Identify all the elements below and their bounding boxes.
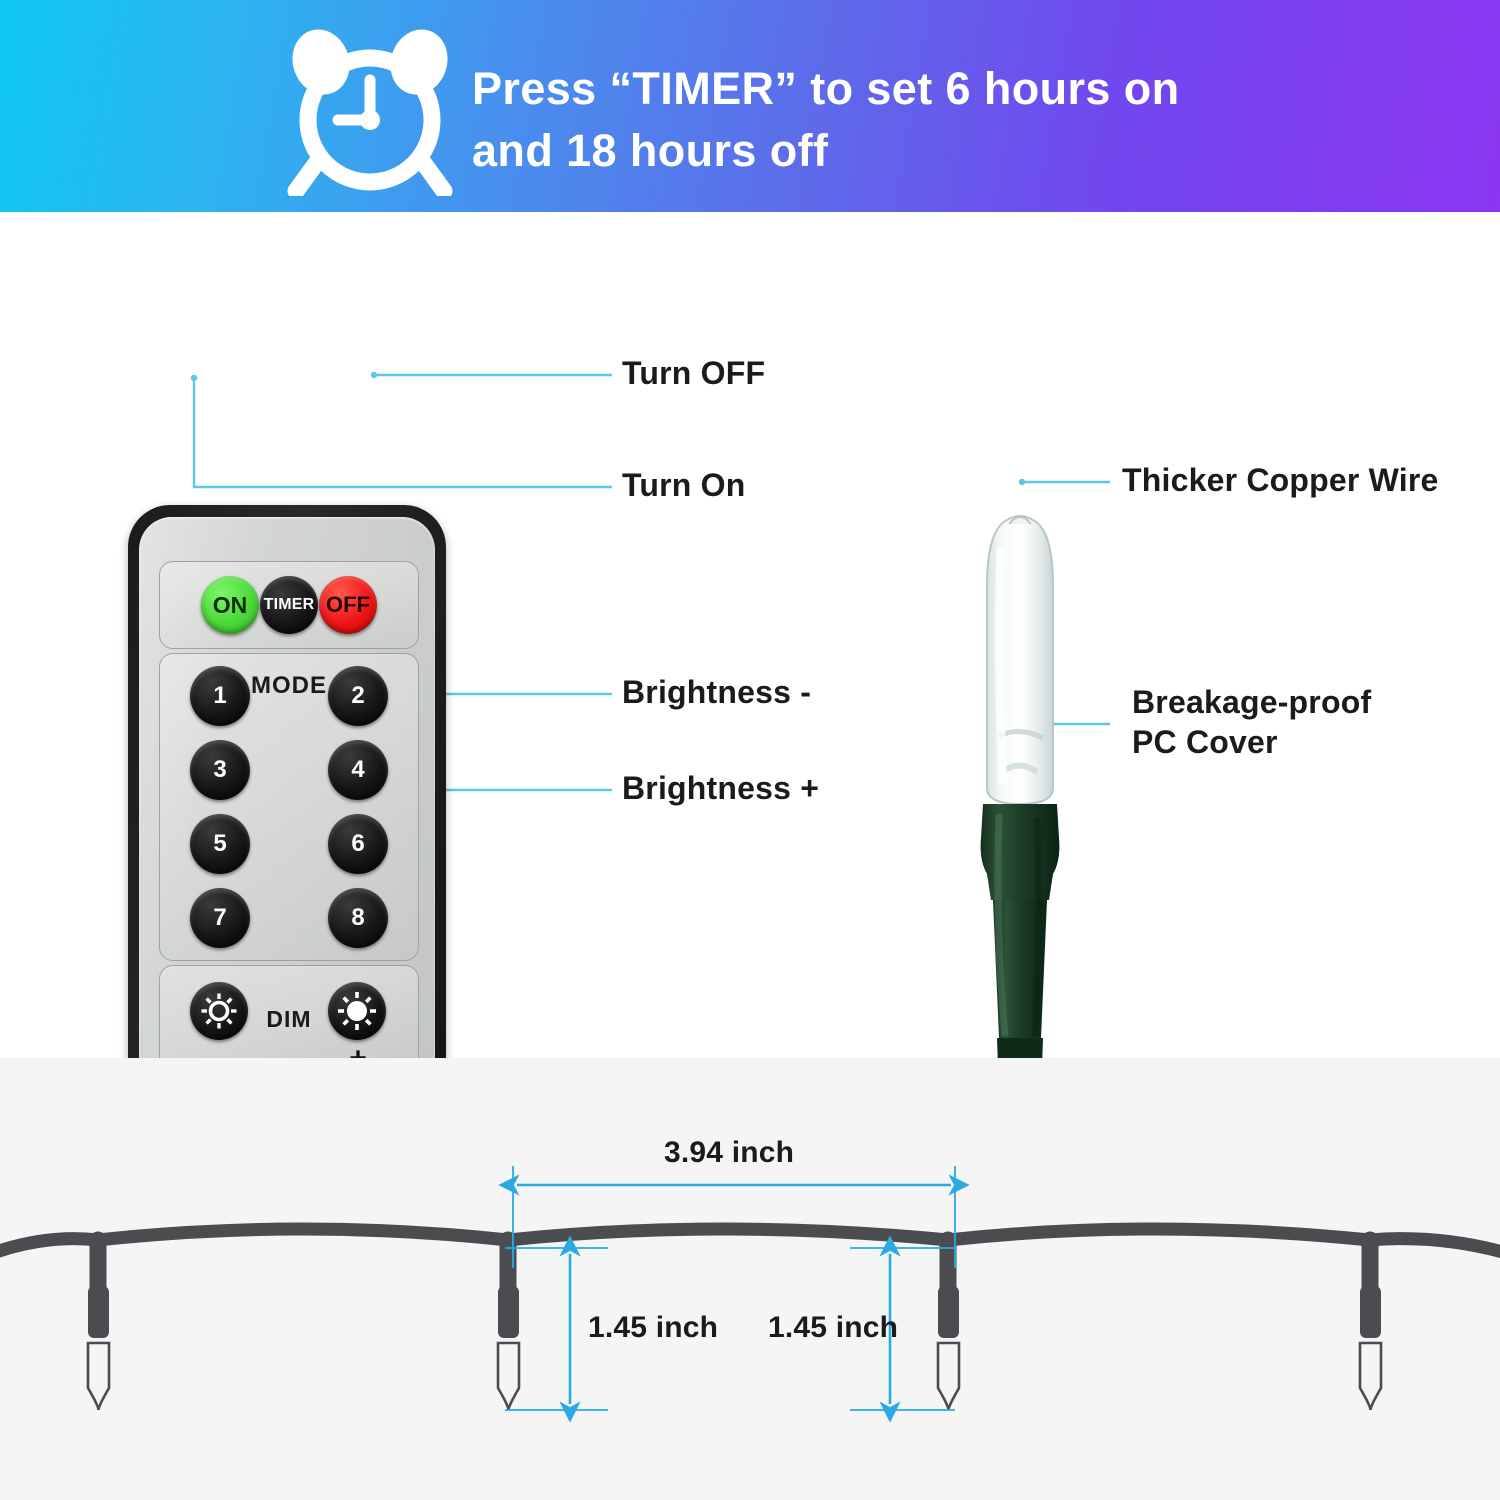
brightness-up-button[interactable] [328,982,386,1040]
dimensions-panel: 3.94 inch 1.45 inch 1.45 inch [0,1058,1500,1500]
mode-section: MODE 1 2 3 4 5 6 7 8 [159,653,419,961]
string-bulb [1360,1240,1381,1410]
callout-thicker-copper-wire: Thicker Copper Wire [1122,460,1438,500]
sun-bright-icon [336,990,378,1032]
infographic-canvas: Press “TIMER” to set 6 hours on and 18 h… [0,0,1500,1500]
mode-button-6[interactable]: 6 [328,814,388,874]
mode-button-2[interactable]: 2 [328,666,388,726]
brightness-down-button[interactable] [190,982,248,1040]
mode-button-8[interactable]: 8 [328,888,388,948]
off-button[interactable]: OFF [319,576,377,634]
bulb-base-collar [981,804,1060,900]
callout-brightness-minus: Brightness - [622,672,811,712]
mode-button-1[interactable]: 1 [190,666,250,726]
header-banner: Press “TIMER” to set 6 hours on and 18 h… [0,0,1500,212]
mode-button-4[interactable]: 4 [328,740,388,800]
leader-turn-on [194,378,612,487]
callout-breakage-proof-pc-cover: Breakage-proof PC Cover [1132,682,1371,762]
sun-dim-icon [199,991,239,1031]
mode-button-3[interactable]: 3 [190,740,250,800]
alarm-clock-icon [282,28,458,196]
string-lights-diagram [0,1058,1500,1500]
string-bulb [88,1240,109,1410]
callout-turn-off: Turn OFF [622,353,765,393]
power-section: ON TIMER OFF [159,561,419,649]
callout-brightness-plus: Brightness + [622,768,819,808]
bulb-drops [88,1240,1381,1410]
light-string-wire [0,1229,1500,1254]
on-button[interactable]: ON [201,576,259,634]
drop-right-dimension-label: 1.45 inch [768,1311,898,1345]
mode-button-5[interactable]: 5 [190,814,250,874]
drop-left-dimension-label: 1.45 inch [588,1311,718,1345]
string-bulb [498,1240,519,1410]
spacing-dimension [513,1166,955,1268]
mode-button-7[interactable]: 7 [190,888,250,948]
banner-title: Press “TIMER” to set 6 hours on and 18 h… [472,58,1432,182]
timer-button[interactable]: TIMER [260,576,318,634]
features-panel: ON TIMER OFF MODE 1 2 3 4 5 6 7 8 [0,212,1500,1058]
spacing-dimension-label: 3.94 inch [664,1136,794,1170]
callout-turn-on: Turn On [622,465,745,505]
